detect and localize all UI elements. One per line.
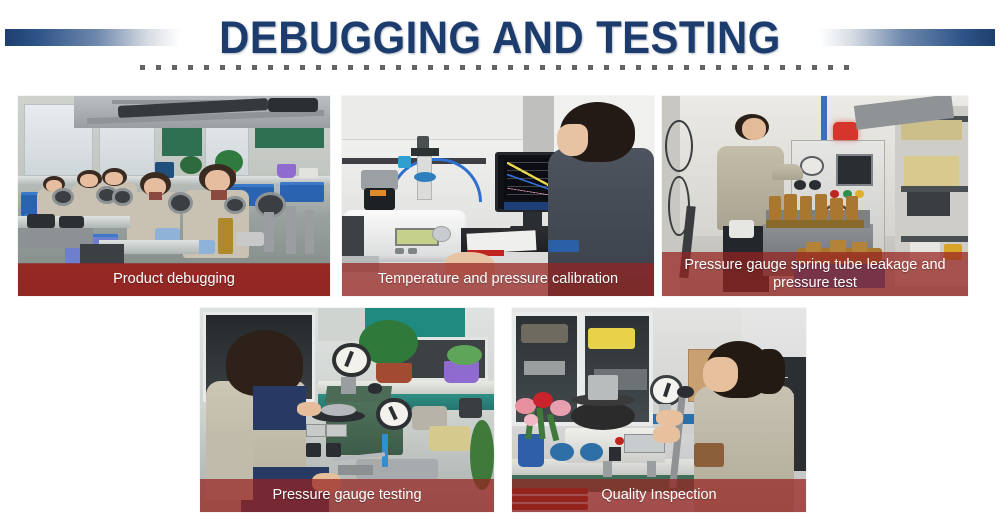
photo-card-quality-inspection[interactable]: Quality Inspection [512, 308, 806, 512]
photo-card-temperature-pressure-calibration[interactable]: Temperature and pressure calibration [342, 96, 654, 296]
card-caption: Quality Inspection [512, 479, 806, 512]
photo-card-spring-tube-leakage-test[interactable]: Pressure gauge spring tube leakage and p… [662, 96, 968, 296]
page-header: DEBUGGING AND TESTING [0, 0, 1000, 90]
card-caption: Product debugging [18, 263, 330, 296]
photo-card-pressure-gauge-testing[interactable]: Pressure gauge testing [200, 308, 494, 512]
title-decoration-bar-left [5, 29, 180, 46]
page-root: DEBUGGING AND TESTING [0, 0, 1000, 532]
title-row: DEBUGGING AND TESTING [0, 8, 1000, 66]
card-caption: Pressure gauge testing [200, 479, 494, 512]
card-caption: Pressure gauge spring tube leakage and p… [662, 252, 968, 296]
page-title: DEBUGGING AND TESTING [219, 15, 781, 60]
dotted-divider [140, 64, 860, 71]
title-decoration-bar-right [820, 29, 995, 46]
card-caption: Temperature and pressure calibration [342, 263, 654, 296]
photo-card-product-debugging[interactable]: Product debugging [18, 96, 330, 296]
